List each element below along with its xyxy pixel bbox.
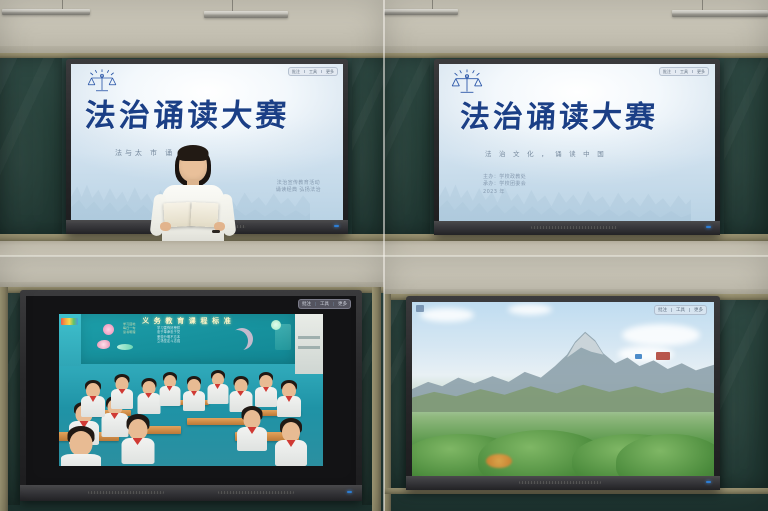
classroom-blackboard: 义 务 教 育 课 程 标 准 学习雷锋好榜样 忠于革命忠于党 爱憎分明不忘本 … xyxy=(79,314,295,364)
classroom-pupil xyxy=(255,372,277,406)
toolbar-item-annotate[interactable]: 批注 xyxy=(302,301,311,307)
classroom-pupil xyxy=(277,380,301,416)
classroom-pupil xyxy=(183,376,205,410)
mountain-silhouette-icon xyxy=(412,326,714,412)
classroom-pupil xyxy=(121,414,154,464)
toolbar-item-more[interactable]: 更多 xyxy=(697,69,705,75)
ceiling-lamp-icon xyxy=(204,11,288,18)
toolbar-item-annotate[interactable]: 批注 xyxy=(658,307,667,313)
slide-window-toolbar[interactable]: 批注 工具 更多 xyxy=(659,67,709,76)
toolbar-item-more[interactable]: 更多 xyxy=(694,307,703,313)
collage-panel-bottom-left: 批注 工具 更多 义 务 教 育 课 程 标 准 学习雷锋好榜样 忠于革命忠于党… xyxy=(0,256,384,511)
toolbar-item-tools[interactable]: 工具 xyxy=(680,69,688,75)
toolbar-item-annotate[interactable]: 批注 xyxy=(663,69,671,75)
classroom-pupil xyxy=(159,372,180,405)
classroom-pupil xyxy=(81,380,105,416)
slide-classroom-photo: 义 务 教 育 课 程 标 准 学习雷锋好榜样 忠于革命忠于党 爱憎分明不忘本 … xyxy=(59,314,323,466)
slide-credit: 法治宣传教育活动 诵读经典 弘扬法治 xyxy=(276,180,321,195)
classroom-pupil xyxy=(111,374,133,408)
ifp-screen[interactable]: 批注 工具 更多 xyxy=(412,302,714,476)
classroom-pupil xyxy=(237,406,267,450)
ifp-screen[interactable]: 批注 工具 更多 义 务 教 育 课 程 标 准 学习雷锋好榜样 忠于革命忠于党… xyxy=(26,296,356,485)
blackboard-right xyxy=(362,293,372,505)
flower-decoration-icon xyxy=(103,324,114,335)
collage-panel-bottom-right: 批注 工具 更多 xyxy=(384,256,768,511)
toolbar-item-more[interactable]: 更多 xyxy=(338,301,347,307)
blackboard-note-left: 学习园地每日一句读书明理 xyxy=(123,322,155,334)
leaf-decoration-icon xyxy=(117,344,133,350)
slide-title: 法治诵读大赛 xyxy=(84,90,291,135)
classroom-pupil xyxy=(61,426,101,466)
slide-subtitle: 法 治 文 化 ， 诵 读 中 国 xyxy=(485,148,606,158)
classroom-pupil xyxy=(137,378,160,413)
interactive-flat-panel[interactable]: 批注 工具 更多 法治诵读大赛 法 治 文 化 ， 诵 读 中 国 主办：学校政… xyxy=(434,59,720,235)
slide-law-recitation: 批注 工具 更多 法治诵读大赛 法 治 文 化 ， 诵 读 中 国 主办：学校政… xyxy=(439,64,715,221)
slide-title: 法治诵读大赛 xyxy=(459,92,659,136)
classroom-pupil xyxy=(207,370,228,403)
photo-collage: 批注 工具 更多 法治诵读大赛 法与太 市 诵 大 赛 法治宣传教育活动 诵读经… xyxy=(0,0,768,511)
interactive-flat-panel[interactable]: 批注 工具 更多 义 务 教 育 课 程 标 准 学习雷锋好榜样 忠于革命忠于党… xyxy=(20,290,362,501)
ceiling-lamp-icon xyxy=(672,10,768,17)
blackboard-left xyxy=(8,293,20,505)
slide-window-toolbar[interactable]: 批注 工具 更多 xyxy=(298,299,351,309)
blackboard-right xyxy=(352,58,384,234)
ceiling-lamp-icon xyxy=(2,9,90,15)
blackboard-right xyxy=(724,58,768,234)
collage-panel-top-right: 批注 工具 更多 法治诵读大赛 法 治 文 化 ， 诵 读 中 国 主办：学校政… xyxy=(384,0,768,256)
toolbar-item-tools[interactable]: 工具 xyxy=(320,301,329,307)
toolbar-item-annotate[interactable]: 批注 xyxy=(292,69,300,75)
presenter-woman-white-shirt xyxy=(150,142,236,256)
toolbar-item-tools[interactable]: 工具 xyxy=(309,69,317,75)
blackboard-right xyxy=(720,300,768,488)
collage-panel-top-left: 批注 工具 更多 法治诵读大赛 法与太 市 诵 大 赛 法治宣传教育活动 诵读经… xyxy=(0,0,384,256)
toolbar-item-tools[interactable]: 工具 xyxy=(676,307,685,313)
interactive-flat-panel[interactable]: 批注 工具 更多 xyxy=(406,296,720,490)
ceiling-lamp-icon xyxy=(384,9,458,15)
slide-credit: 主办：学校政教处 承办：学校团委会 2023 年 xyxy=(483,174,526,196)
slide-window-toolbar[interactable]: 批注 工具 更多 xyxy=(654,305,707,315)
ifp-screen[interactable]: 批注 工具 更多 法治诵读大赛 法 治 文 化 ， 诵 读 中 国 主办：学校政… xyxy=(439,64,715,221)
slide-mountain-photo: 批注 工具 更多 xyxy=(412,302,714,476)
flower-decoration-icon xyxy=(97,340,110,349)
blackboard-note: 学习雷锋好榜样 忠于革命忠于党 爱憎分明不忘本 立场坚定斗志强 xyxy=(157,326,231,343)
blackboard-left xyxy=(0,58,62,234)
open-book xyxy=(164,202,218,226)
toolbar-item-more[interactable]: 更多 xyxy=(326,69,334,75)
slide-window-toolbar[interactable]: 批注 工具 更多 xyxy=(288,67,338,76)
blackboard-left xyxy=(384,58,430,234)
classroom-pupil xyxy=(275,418,307,466)
moon-decoration-icon xyxy=(231,328,253,350)
